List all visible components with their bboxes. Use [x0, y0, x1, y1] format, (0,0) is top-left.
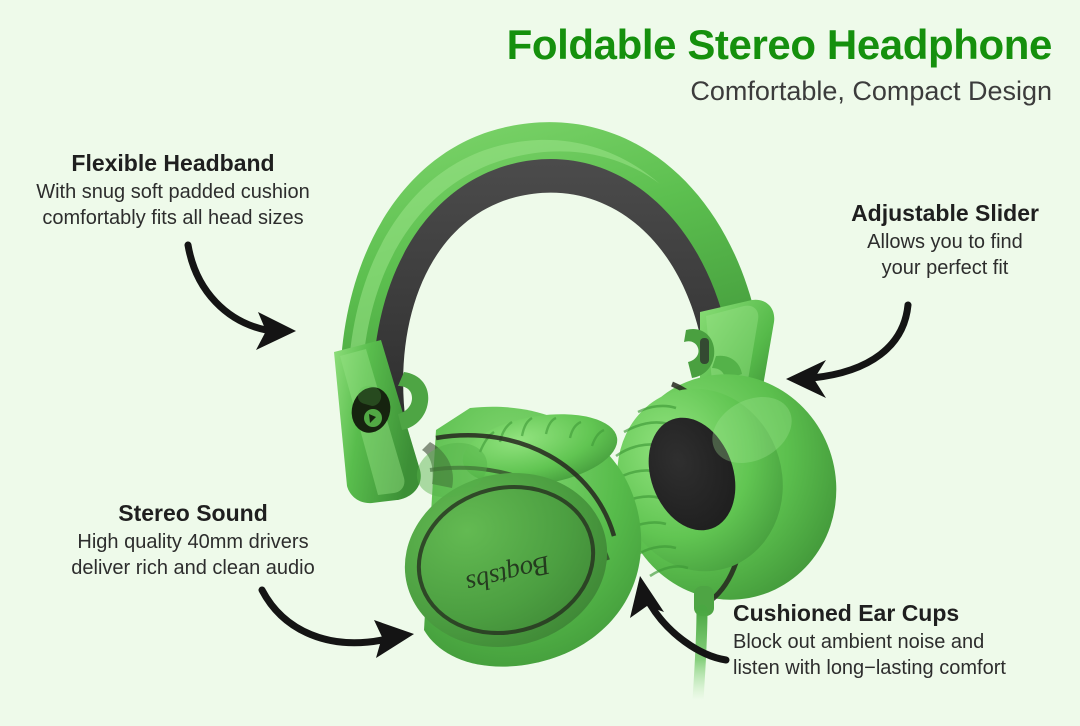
callout-cushioned-ear-cups: Cushioned Ear Cups Block out ambient noi…: [733, 600, 1078, 682]
callout-stereo-sound: Stereo Sound High quality 40mm drivers d…: [38, 500, 348, 582]
arrow-cups: [630, 576, 726, 660]
callout-stereo-title: Stereo Sound: [38, 500, 348, 526]
arrow-stereo: [262, 590, 414, 658]
header: Foldable Stereo Headphone Comfortable, C…: [352, 22, 1052, 107]
headband-cushion: [369, 154, 730, 430]
callout-adjustable-slider: Adjustable Slider Allows you to find you…: [820, 200, 1070, 282]
left-ear-cup: Boqtsbs: [386, 404, 641, 668]
callout-flexible-headband: Flexible Headband With snug soft padded …: [8, 150, 338, 232]
page-subtitle: Comfortable, Compact Design: [352, 77, 1052, 107]
callout-stereo-body: High quality 40mm drivers deliver rich a…: [38, 530, 348, 581]
right-slider-arm: [684, 300, 774, 411]
callout-cups-body: Block out ambient noise and listen with …: [733, 630, 1078, 681]
headband-outer-shell: [340, 122, 757, 452]
arrow-headband: [188, 245, 296, 350]
left-yoke-arm: [334, 340, 428, 503]
callout-slider-body: Allows you to find your perfect fit: [820, 230, 1070, 281]
callout-headband-title: Flexible Headband: [8, 150, 338, 176]
arrow-slider: [786, 305, 908, 398]
right-ear-cup: [596, 351, 860, 623]
page-title: Foldable Stereo Headphone: [352, 22, 1052, 67]
brand-logo-icon: [346, 383, 395, 438]
callout-headband-body: With snug soft padded cushion comfortabl…: [8, 180, 338, 231]
earcup-brand-text: Boqtsbs: [463, 550, 553, 600]
callout-cups-title: Cushioned Ear Cups: [733, 600, 1078, 626]
headphone-cable: [694, 586, 714, 700]
callout-slider-title: Adjustable Slider: [820, 200, 1070, 226]
product-infographic: Foldable Stereo Headphone Comfortable, C…: [0, 0, 1080, 726]
